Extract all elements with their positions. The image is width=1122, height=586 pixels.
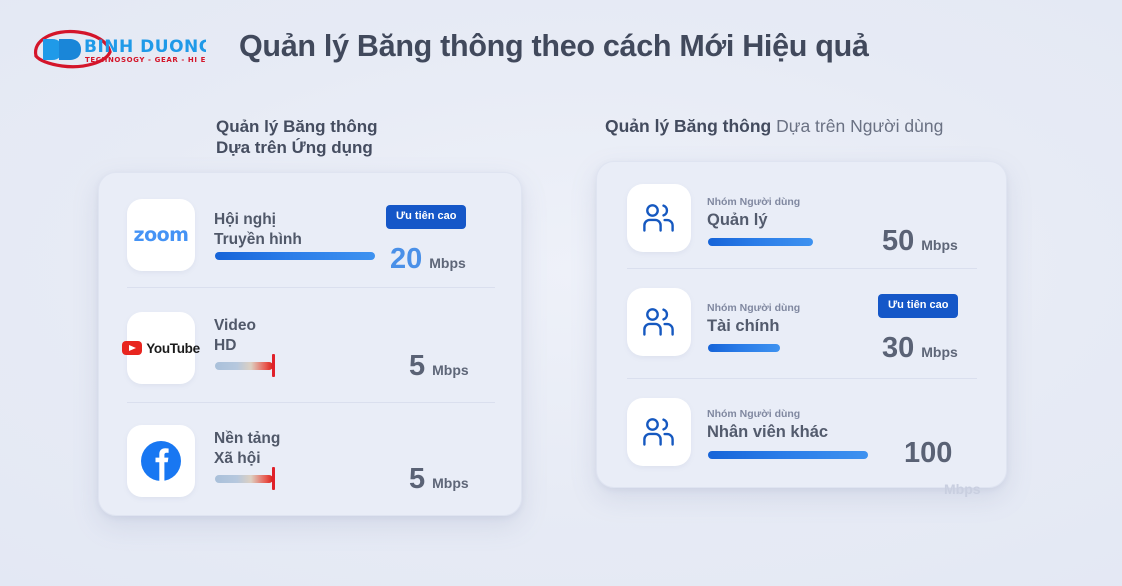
right-heading-rest: Dựa trên Người dùng bbox=[771, 116, 943, 136]
value-number: 20 bbox=[390, 243, 422, 275]
right-section-heading: Quản lý Băng thông Dựa trên Người dùng bbox=[605, 116, 943, 137]
users-group-icon bbox=[642, 307, 676, 337]
value-unit: Mbps bbox=[921, 344, 958, 360]
page-header: BINH DUONG TECHNOSOGY - GEAR - HI END Qu… bbox=[0, 0, 1122, 96]
app-row-social[interactable]: Nền tảng Xã hội 5Mbps bbox=[99, 403, 521, 516]
brand-logo: BINH DUONG TECHNOSOGY - GEAR - HI END bbox=[26, 26, 206, 72]
value-unit: Mbps bbox=[429, 255, 466, 271]
bandwidth-bar-other-staff bbox=[708, 451, 868, 459]
app-row-video-hd[interactable]: YouTube Video HD 5Mbps bbox=[99, 288, 521, 403]
value-unit: Mbps bbox=[921, 237, 958, 253]
users-group-icon-tile-finance bbox=[627, 288, 691, 356]
app-bandwidth-card: zoom Hội nghị Truyền hình Ưu tiên cao 20… bbox=[98, 172, 522, 516]
bandwidth-value-finance: 30Mbps bbox=[882, 334, 958, 363]
zoom-logo-text: zoom bbox=[134, 224, 189, 246]
youtube-logo-text: YouTube bbox=[146, 341, 200, 356]
bandwidth-value-other-staff: 100 bbox=[904, 439, 952, 468]
user-row-other-staff[interactable]: Nhóm Người dùng Nhân viên khác 100 bbox=[597, 382, 1006, 488]
bandwidth-bar-finance bbox=[708, 344, 780, 352]
bandwidth-bar-video-conference bbox=[215, 252, 375, 260]
value-number: 5 bbox=[409, 350, 425, 382]
user-group-label-management: Nhóm Người dùng bbox=[707, 196, 800, 208]
row-divider bbox=[627, 378, 977, 379]
user-group-name-other-staff: Nhân viên khác bbox=[707, 423, 828, 442]
users-group-icon bbox=[642, 417, 676, 447]
bandwidth-bar-management bbox=[708, 238, 813, 246]
bandwidth-value-video-hd: 5Mbps bbox=[409, 352, 469, 381]
youtube-logo-icon: YouTube bbox=[127, 312, 195, 384]
page-title: Quản lý Băng thông theo cách Mới Hiệu qu… bbox=[239, 29, 869, 64]
app-row-title-social: Nền tảng Xã hội bbox=[214, 429, 280, 468]
bandwidth-limit-marker-video-hd bbox=[272, 354, 275, 377]
app-title-line1: Hội nghị bbox=[214, 210, 302, 230]
facebook-logo-icon bbox=[127, 425, 195, 497]
row-divider bbox=[627, 268, 977, 269]
left-heading-line2: Dựa trên Ứng dụng bbox=[216, 137, 378, 158]
user-group-name-management: Quản lý bbox=[707, 211, 768, 230]
youtube-logo-mark: YouTube bbox=[122, 341, 200, 356]
user-group-label-other-staff: Nhóm Người dùng bbox=[707, 408, 800, 420]
priority-badge-video-conference[interactable]: Ưu tiên cao bbox=[386, 205, 466, 229]
value-number: 50 bbox=[882, 225, 914, 257]
value-number: 100 bbox=[904, 437, 952, 469]
value-number: 5 bbox=[409, 463, 425, 495]
bandwidth-value-management: 50Mbps bbox=[882, 227, 958, 256]
left-section-heading: Quản lý Băng thông Dựa trên Ứng dụng bbox=[216, 116, 378, 158]
bandwidth-value-social: 5Mbps bbox=[409, 465, 469, 494]
bandwidth-value-video-conference: 20Mbps bbox=[390, 245, 466, 274]
app-row-video-conference[interactable]: zoom Hội nghị Truyền hình Ưu tiên cao 20… bbox=[99, 173, 521, 288]
facebook-mark-icon bbox=[139, 439, 183, 483]
right-heading-bold: Quản lý Băng thông bbox=[605, 116, 771, 136]
user-group-label-finance: Nhóm Người dùng bbox=[707, 302, 800, 314]
app-row-title-video-conference: Hội nghị Truyền hình bbox=[214, 210, 302, 249]
bandwidth-bar-social bbox=[215, 475, 273, 483]
value-unit: Mbps bbox=[432, 362, 469, 378]
value-number: 30 bbox=[882, 332, 914, 364]
left-heading-line1: Quản lý Băng thông bbox=[216, 116, 378, 137]
svg-text:BINH DUONG: BINH DUONG bbox=[84, 37, 206, 57]
bandwidth-unit-other-staff-clipped: Mbps bbox=[944, 481, 981, 497]
value-unit: Mbps bbox=[432, 475, 469, 491]
priority-badge-finance[interactable]: Ưu tiên cao bbox=[878, 294, 958, 318]
user-bandwidth-card: Nhóm Người dùng Quản lý 50Mbps Nhóm Ngườ… bbox=[596, 161, 1007, 488]
user-group-name-finance: Tài chính bbox=[707, 317, 779, 336]
binh-duong-logo-icon: BINH DUONG TECHNOSOGY - GEAR - HI END bbox=[26, 26, 206, 72]
users-group-icon bbox=[642, 203, 676, 233]
app-title-line1: Nền tảng bbox=[214, 429, 280, 449]
app-title-line2: Xã hội bbox=[214, 449, 280, 469]
users-group-icon-tile-other-staff bbox=[627, 398, 691, 466]
svg-text:TECHNOSOGY - GEAR - HI END: TECHNOSOGY - GEAR - HI END bbox=[85, 56, 206, 64]
users-group-icon-tile-management bbox=[627, 184, 691, 252]
app-title-line2: Truyền hình bbox=[214, 230, 302, 250]
zoom-logo-icon: zoom bbox=[127, 199, 195, 271]
user-row-management[interactable]: Nhóm Người dùng Quản lý 50Mbps bbox=[597, 162, 1006, 272]
app-title-line2: HD bbox=[214, 336, 256, 356]
app-row-title-video-hd: Video HD bbox=[214, 316, 256, 355]
user-row-finance[interactable]: Nhóm Người dùng Tài chính Ưu tiên cao 30… bbox=[597, 272, 1006, 382]
bandwidth-limit-marker-social bbox=[272, 467, 275, 490]
app-title-line1: Video bbox=[214, 316, 256, 336]
youtube-play-icon bbox=[122, 341, 142, 355]
bandwidth-bar-video-hd bbox=[215, 362, 273, 370]
